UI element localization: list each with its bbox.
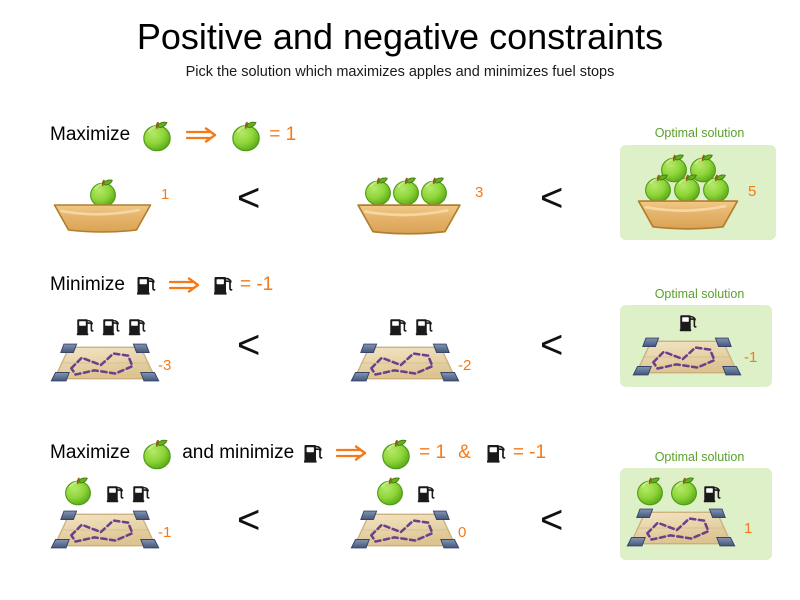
apple-group [362, 174, 450, 206]
row-label: Minimize = -1 [50, 273, 273, 297]
fuel-pump-icon [302, 441, 324, 465]
score-value: 1 [744, 520, 752, 537]
route-map-icon [350, 510, 460, 550]
score-value: 0 [458, 524, 466, 541]
solution-item[interactable]: 0 [350, 474, 530, 559]
page-title: Positive and negative constraints [0, 16, 800, 58]
row-label: Maximize = 1 [50, 118, 296, 152]
bowl-icon [50, 203, 155, 236]
apple-icon [229, 118, 263, 152]
apple-icon [62, 474, 94, 506]
apple-icon [140, 436, 174, 470]
route-map-icon [632, 337, 742, 377]
solution-item[interactable]: -1 [50, 474, 230, 559]
route-map-icon [50, 510, 160, 550]
fuel-pump-icon [414, 315, 434, 338]
fuel-pump-icon [702, 482, 722, 505]
apple-group [634, 474, 700, 506]
apple-icon [668, 474, 700, 506]
score-value: -1 [744, 349, 757, 366]
less-than-icon: < [237, 500, 260, 540]
apple-icon [634, 474, 666, 506]
solution-item[interactable]: 3 [350, 170, 530, 245]
optimal-solution-label: Optimal solution [612, 287, 787, 301]
row-result-value: = 1 [419, 442, 446, 464]
row-verb: Minimize [50, 274, 125, 296]
apple-icon [140, 118, 174, 152]
fuel-pump-icon [678, 311, 698, 334]
optimal-solution-box[interactable]: -1 [620, 305, 772, 387]
less-than-icon: < [237, 325, 260, 365]
pump-group [416, 482, 436, 505]
score-value: 5 [748, 183, 756, 200]
slide-canvas: Positive and negative constraints Pick t… [0, 0, 800, 600]
double-arrow-right-icon [169, 276, 200, 294]
solution-item[interactable]: -2 [350, 315, 530, 395]
row-result-value-2: = -1 [513, 442, 546, 464]
double-arrow-right-icon [186, 126, 217, 144]
fuel-pump-icon [212, 273, 234, 297]
pump-group [75, 315, 147, 338]
row-result-value: = -1 [240, 274, 273, 296]
less-than-icon: < [540, 500, 563, 540]
route-map-icon [50, 343, 160, 383]
pump-group [105, 482, 151, 505]
double-arrow-right-icon [336, 444, 367, 462]
pump-group [388, 315, 434, 338]
row-result-value: = 1 [269, 124, 296, 146]
route-map-icon [350, 343, 460, 383]
less-than-icon: < [237, 178, 260, 218]
optimal-solution-label: Optimal solution [612, 126, 787, 140]
bowl-icon [632, 199, 744, 233]
optimal-solution-box[interactable]: 5 [620, 145, 776, 240]
less-than-icon: < [540, 325, 563, 365]
score-value: -2 [458, 357, 471, 374]
pump-group [702, 482, 722, 505]
fuel-pump-icon [388, 315, 408, 338]
apple-icon [374, 474, 406, 506]
pump-group [678, 311, 698, 334]
fuel-pump-icon [485, 441, 507, 465]
score-value: -1 [158, 524, 171, 541]
score-value: 3 [475, 184, 483, 201]
score-value: 1 [161, 186, 169, 203]
row-verb: Maximize [50, 124, 130, 146]
row-label: Maximize and minimize = 1 & = -1 [50, 436, 546, 470]
apple-group [62, 474, 94, 511]
solution-item[interactable]: 1 [50, 170, 220, 245]
fuel-pump-icon [105, 482, 125, 505]
score-value: -3 [158, 357, 171, 374]
bowl-icon [350, 203, 468, 238]
page-subtitle: Pick the solution which maximizes apples… [0, 64, 800, 80]
row-verb: Maximize [50, 442, 130, 464]
optimal-solution-box[interactable]: 1 [620, 468, 772, 560]
apple-group [374, 474, 406, 511]
less-than-icon: < [540, 178, 563, 218]
fuel-pump-icon [127, 315, 147, 338]
fuel-pump-icon [75, 315, 95, 338]
fuel-pump-icon [135, 273, 157, 297]
optimal-solution-label: Optimal solution [612, 450, 787, 464]
fuel-pump-icon [416, 482, 436, 505]
solution-item[interactable]: -3 [50, 315, 230, 395]
row-conjunction: and minimize [182, 442, 294, 464]
route-map-icon [626, 508, 736, 548]
ampersand: & [458, 442, 471, 464]
apple-icon [418, 174, 450, 206]
apple-icon [379, 436, 413, 470]
fuel-pump-icon [101, 315, 121, 338]
fuel-pump-icon [131, 482, 151, 505]
